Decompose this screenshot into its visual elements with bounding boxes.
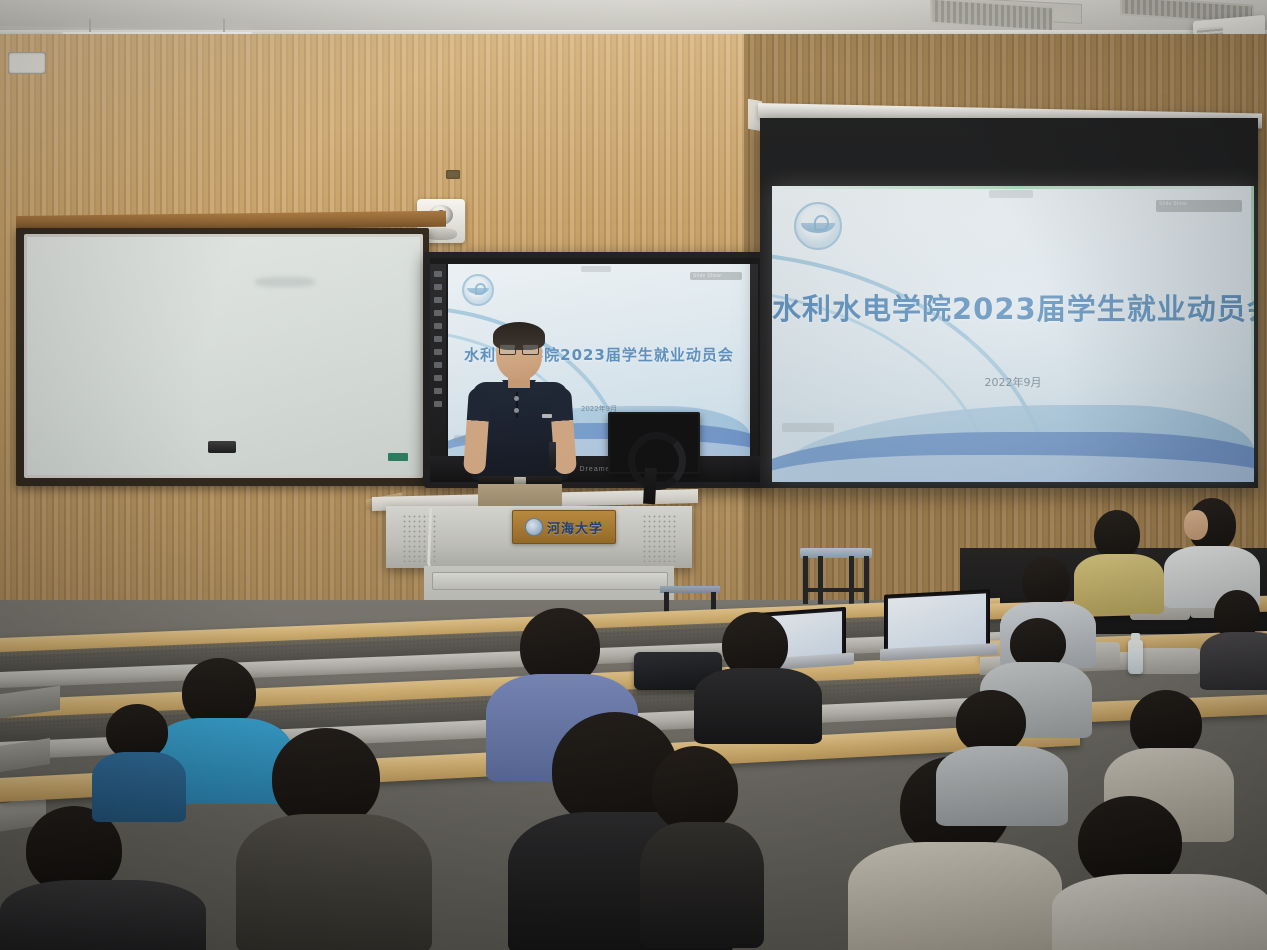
audience-member [1200, 590, 1267, 690]
screen-edge-highlight [772, 186, 1254, 189]
audience-body [1052, 874, 1267, 950]
presenter-button [514, 408, 519, 413]
audience-head [1094, 510, 1140, 560]
audience-body [1200, 632, 1267, 690]
audience-body [936, 746, 1068, 826]
toolbar-icon[interactable] [434, 284, 442, 290]
toolbar-icon[interactable] [434, 349, 442, 355]
retractable-projection-screen: 水利水电学院2023届学生就业动员会 2022年9月 Slide Show [772, 186, 1254, 482]
audience-member [0, 806, 200, 950]
presenter-trousers [478, 484, 562, 506]
plaque-text: 河海大学 [547, 518, 603, 537]
toolbar-icon[interactable] [434, 336, 442, 342]
slide-top-chip [581, 266, 611, 272]
audience-member [236, 728, 426, 950]
audience-face [1184, 510, 1208, 540]
side-table-rail [804, 588, 868, 592]
presenter-button [514, 396, 519, 401]
panel-brand-label: Dreame [580, 466, 611, 473]
panel-right-rail [750, 264, 758, 456]
audience-body [0, 880, 206, 950]
presenter [466, 322, 574, 502]
audience-member [92, 704, 182, 814]
camera-base [425, 228, 457, 240]
audience-head [1022, 556, 1070, 608]
screen-edge-highlight-right [1251, 186, 1254, 482]
lecture-hall-photo: 水利水电学院2023届学生就业动员会 2022年9月 Slide Show Dr… [0, 0, 1267, 950]
podium-plaque: 河海大学 [512, 510, 616, 544]
audience-head [272, 728, 380, 828]
presenter-belt-buckle [514, 477, 526, 484]
screen-glow [772, 186, 1254, 482]
side-table-top [800, 548, 872, 558]
wall-outlet [446, 170, 460, 179]
water-bottle [1128, 640, 1143, 674]
university-seal-icon [462, 274, 494, 306]
glasses-icon [499, 344, 539, 353]
whiteboard-smudge [255, 277, 315, 287]
slide-wave-pale [772, 455, 1254, 482]
toolbar-icon[interactable] [434, 297, 442, 303]
side-table-leg [849, 556, 854, 604]
slideshow-chip[interactable]: Slide Show [1156, 200, 1242, 212]
slideshow-chip[interactable]: Slide Show [690, 272, 742, 280]
audience-head [956, 690, 1026, 754]
audience-body [92, 752, 186, 822]
side-table-leg [803, 556, 808, 604]
audience-body [848, 842, 1062, 950]
toolbar-icon[interactable] [434, 401, 442, 407]
slide-top-chip [989, 190, 1033, 198]
audience-member [640, 746, 760, 946]
toolbar-icon[interactable] [434, 362, 442, 368]
slide-wave-light [772, 405, 1254, 482]
university-seal-icon [525, 518, 543, 536]
panel-toolbar[interactable] [430, 264, 446, 456]
audience-member [936, 690, 1066, 820]
slide-date: 2022年9月 [772, 374, 1254, 390]
toolbar-icon[interactable] [434, 388, 442, 394]
audience-member [1052, 796, 1267, 950]
university-seal-icon [794, 202, 842, 250]
podium-speaker-grill [642, 514, 678, 562]
presenter-badge [542, 414, 552, 418]
wall-box [8, 52, 46, 74]
blue-top-side-table [800, 548, 872, 604]
toolbar-icon[interactable] [434, 375, 442, 381]
whiteboard-eraser[interactable] [208, 441, 236, 453]
slide-status-chip [782, 423, 834, 432]
left-whiteboard[interactable] [16, 228, 429, 486]
audience-body [640, 822, 764, 948]
monitor-arm [628, 432, 686, 490]
monitor-stand [643, 468, 657, 505]
presenter-lanyard [549, 442, 556, 468]
side-table-leg [864, 556, 869, 604]
toolbar-icon[interactable] [434, 310, 442, 316]
toolbar-icon[interactable] [434, 323, 442, 329]
laptop[interactable] [884, 592, 994, 662]
podium-drawer[interactable] [432, 572, 668, 590]
audience-head [652, 746, 738, 832]
slide-projected: 水利水电学院2023届学生就业动员会 2022年9月 Slide Show [772, 186, 1254, 482]
side-table-leg [818, 556, 823, 604]
slide-wave-deep [772, 432, 1254, 482]
whiteboard-surface[interactable] [24, 234, 423, 478]
audience-body [236, 814, 432, 950]
slide-title: 水利水电学院2023届学生就业动员会 [772, 286, 1254, 328]
toolbar-icon[interactable] [434, 271, 442, 277]
whiteboard-indicator [388, 453, 408, 461]
